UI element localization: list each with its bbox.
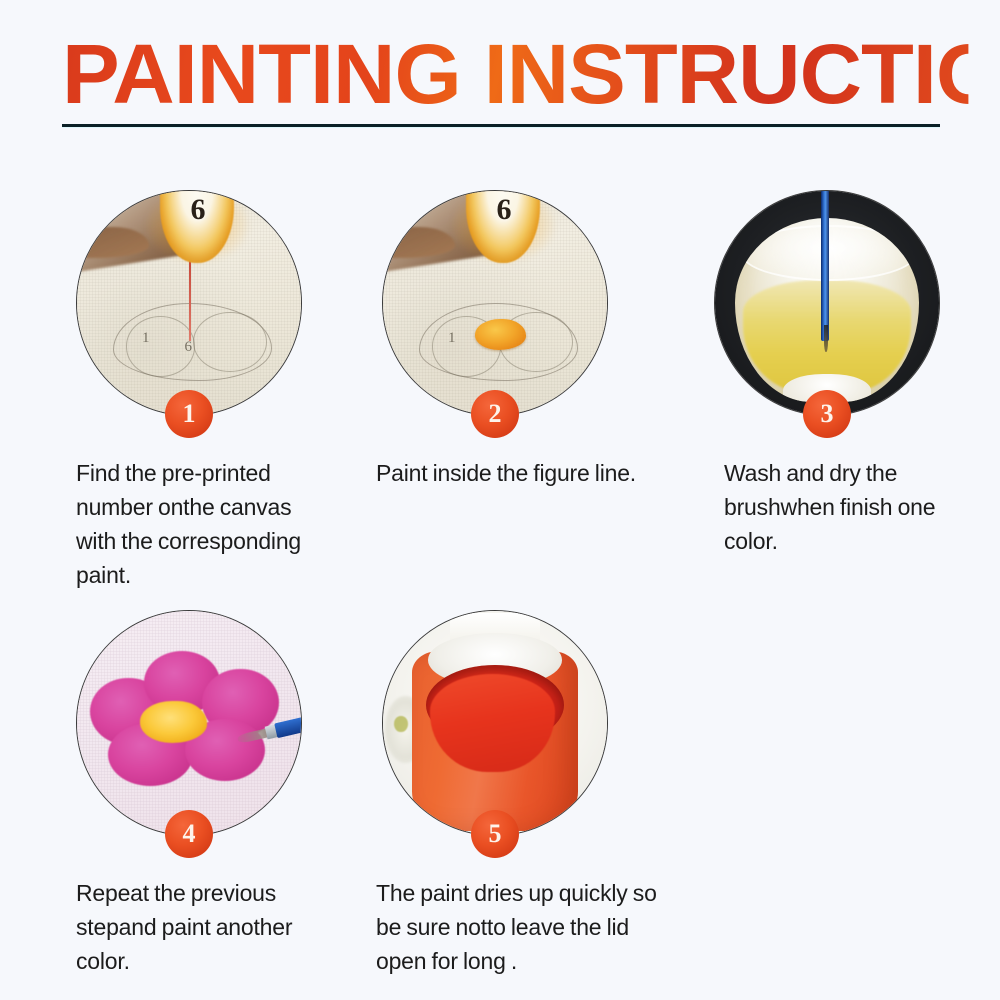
pink-flower-painted-with-brush-scene — [77, 611, 301, 835]
step-3-photo-wrap: 3 — [714, 190, 940, 416]
canvas-with-orange-paint-applied-scene: 1 6 — [383, 191, 607, 415]
steps-grid: 1 6 6 1 Find the pre-printed number onth… — [0, 190, 1000, 1000]
step-item-2: 1 6 2 Paint inside the figure line. — [368, 190, 668, 490]
step-item-4: 4 Repeat the previous stepand paint anot… — [62, 610, 362, 978]
brush-rinsing-in-water-cup-scene — [715, 191, 939, 415]
figure-outline-lobe-right — [193, 312, 267, 372]
step-caption-5: The paint dries up quickly so be sure no… — [376, 876, 661, 978]
step-1-photo-wrap: 1 6 6 1 — [76, 190, 302, 416]
step-4-photo-wrap: 4 — [76, 610, 302, 836]
open-red-paint-pot-scene — [383, 611, 607, 835]
step-caption-2: Paint inside the figure line. — [376, 456, 661, 490]
step-item-5: 5 The paint dries up quickly so be sure … — [368, 610, 668, 978]
paint-pot-number-label: 6 — [176, 193, 221, 227]
step-badge-5: 5 — [471, 810, 519, 858]
applied-paint-blob — [475, 319, 527, 350]
steps-row-1: 1 6 6 1 Find the pre-printed number onth… — [0, 190, 1000, 610]
paint-brush-handle — [821, 190, 829, 341]
step-item-3: 3 Wash and dry the brushwhen finish one … — [700, 190, 1000, 558]
step-2-photo-wrap: 1 6 2 — [382, 190, 608, 416]
step-badge-2: 2 — [471, 390, 519, 438]
step-5-photo — [382, 610, 608, 836]
step-item-1: 1 6 6 1 Find the pre-printed number onth… — [62, 190, 362, 592]
step-badge-3: 3 — [803, 390, 851, 438]
step-3-photo — [714, 190, 940, 416]
canvas-printed-number-1: 1 — [142, 330, 150, 347]
step-4-photo — [76, 610, 302, 836]
step-2-photo: 1 6 — [382, 190, 608, 416]
step-5-photo-wrap: 5 — [382, 610, 608, 836]
background-speck — [394, 716, 407, 732]
steps-row-2: 4 Repeat the previous stepand paint anot… — [0, 610, 1000, 1000]
page-title: PAINTING INSTRUCTION — [62, 33, 968, 115]
step-caption-4: Repeat the previous stepand paint anothe… — [76, 876, 336, 978]
flower-center — [140, 701, 207, 744]
step-caption-1: Find the pre-printed number onthe canvas… — [76, 456, 336, 592]
canvas-printed-number-1: 1 — [448, 330, 456, 347]
canvas-with-numbered-paint-pot-scene: 1 6 6 — [77, 191, 301, 415]
canvas-printed-number-6: 6 — [185, 339, 193, 356]
title-underline-rule — [62, 124, 940, 127]
paint-brush-tip — [824, 325, 828, 352]
step-badge-1: 1 — [165, 390, 213, 438]
step-1-photo: 1 6 6 — [76, 190, 302, 416]
step-badge-4: 4 — [165, 810, 213, 858]
header: PAINTING INSTRUCTION — [0, 0, 1000, 150]
paint-pot-number-label: 6 — [482, 193, 527, 227]
step-caption-3: Wash and dry the brushwhen finish one co… — [724, 456, 974, 558]
